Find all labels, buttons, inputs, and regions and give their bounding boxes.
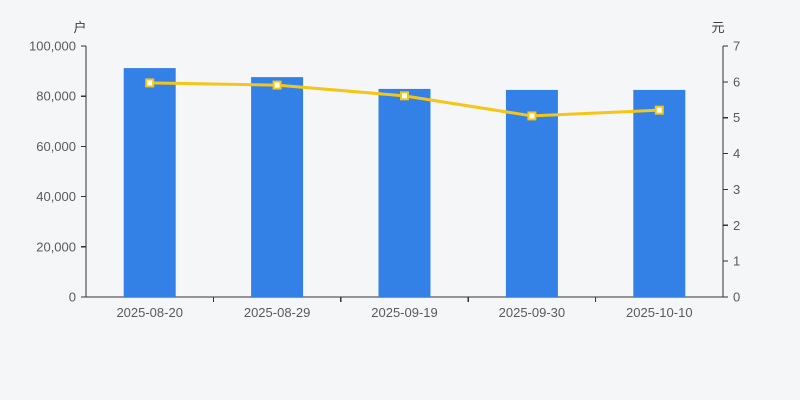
bar[interactable] [124, 68, 176, 297]
line-marker[interactable] [528, 112, 535, 119]
line-marker[interactable] [401, 92, 408, 99]
line-marker[interactable] [146, 79, 153, 86]
x-axis-tick-label: 2025-09-30 [499, 305, 566, 320]
bar[interactable] [251, 77, 303, 297]
right-axis-tick-label: 2 [733, 218, 740, 233]
right-axis-tick-label: 3 [733, 182, 740, 197]
line-marker[interactable] [274, 82, 281, 89]
left-axis-tick-label: 20,000 [36, 239, 76, 254]
left-axis-tick-label: 80,000 [36, 89, 76, 104]
right-axis-tick-label: 5 [733, 110, 740, 125]
chart-container: 户 元 020,00040,00060,00080,000100,000 012… [0, 0, 800, 400]
x-axis-tick-label: 2025-09-19 [371, 305, 438, 320]
bar[interactable] [506, 90, 558, 297]
left-axis-tick-label: 40,000 [36, 189, 76, 204]
right-axis-unit-label: 元 [711, 20, 724, 35]
x-axis-tick-label: 2025-08-29 [244, 305, 311, 320]
bar-line-combo-chart: 户 元 020,00040,00060,00080,000100,000 012… [0, 0, 800, 400]
right-axis-tick-label: 1 [733, 254, 740, 269]
x-axis-tick-label: 2025-10-10 [626, 305, 693, 320]
x-axis-tick-label: 2025-08-20 [116, 305, 183, 320]
bar[interactable] [379, 89, 431, 297]
right-axis-tick-label: 0 [733, 290, 740, 305]
left-axis-tick-label: 0 [69, 290, 76, 305]
right-axis-tick-label: 4 [733, 146, 740, 161]
bar[interactable] [633, 90, 685, 297]
right-axis-tick-label: 7 [733, 39, 740, 54]
right-axis-tick-label: 6 [733, 74, 740, 89]
line-marker[interactable] [656, 107, 663, 114]
left-axis-tick-label: 100,000 [29, 39, 76, 54]
left-axis-tick-label: 60,000 [36, 139, 76, 154]
left-axis-unit-label: 户 [73, 20, 86, 35]
